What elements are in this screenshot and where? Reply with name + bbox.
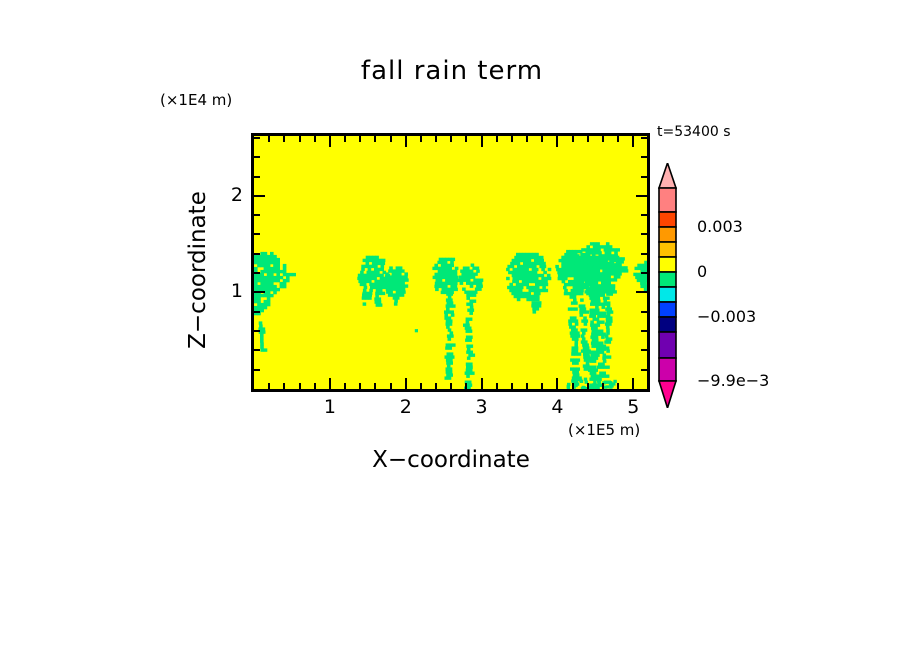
y-axis-tick — [254, 214, 260, 216]
y-axis-tick-right — [641, 137, 647, 139]
y-axis-tick — [254, 349, 260, 351]
x-axis-tick-top — [435, 136, 437, 142]
x-axis-tick-top — [556, 136, 558, 147]
y-axis-tick — [254, 176, 260, 178]
y-axis-tick — [254, 253, 260, 255]
x-axis-tick-top — [299, 136, 301, 142]
x-axis-tick-top — [268, 136, 270, 142]
x-axis-tick-top — [405, 136, 407, 147]
x-axis-tick — [390, 383, 392, 389]
x-axis-tick — [420, 383, 422, 389]
x-tick-label: 1 — [315, 396, 345, 418]
y-axis-tick — [254, 272, 260, 274]
colorbar — [655, 163, 695, 408]
x-axis-tick-top — [359, 136, 361, 142]
y-axis-tick-right — [641, 233, 647, 235]
y-axis-tick — [254, 156, 260, 158]
x-axis-title: X−coordinate — [0, 447, 903, 473]
colorbar-tick-label: 0.003 — [697, 217, 743, 236]
figure-canvas: fall rain term (×1E4 m) (×1E5 m) X−coord… — [0, 0, 904, 654]
x-axis-tick — [465, 383, 467, 389]
y-axis-tick — [254, 233, 260, 235]
y-axis-tick — [254, 195, 265, 197]
x-axis-tick-top — [465, 136, 467, 142]
colorbar-band — [659, 287, 676, 302]
y-axis-tick — [254, 137, 260, 139]
x-axis-tick — [344, 383, 346, 389]
y-axis-title: Z−coordinate — [185, 170, 211, 370]
x-axis-tick-top — [329, 136, 331, 147]
y-axis-tick-right — [641, 349, 647, 351]
colorbar-tick-label: −0.003 — [697, 307, 756, 326]
y-axis-tick-right — [641, 330, 647, 332]
colorbar-band — [659, 302, 676, 317]
x-axis-tick — [283, 383, 285, 389]
x-axis-tick-top — [481, 136, 483, 147]
x-axis-tick — [268, 383, 270, 389]
y-axis-tick-right — [641, 253, 647, 255]
y-tick-label: 2 — [221, 184, 243, 206]
x-axis-tick — [450, 383, 452, 389]
timestamp-label: t=53400 s — [657, 124, 731, 140]
y-axis-tick-right — [641, 311, 647, 313]
x-axis-tick-top — [617, 136, 619, 142]
y-axis-tick — [254, 311, 260, 313]
colorbar-band — [659, 242, 676, 257]
x-tick-label: 3 — [467, 396, 497, 418]
y-axis-tick-right — [641, 369, 647, 371]
x-axis-tick-top — [572, 136, 574, 142]
x-axis-tick — [526, 383, 528, 389]
x-axis-tick — [405, 378, 407, 389]
x-axis-tick-top — [511, 136, 513, 142]
x-axis-tick — [314, 383, 316, 389]
colorbar-band — [659, 257, 676, 272]
x-axis-tick — [602, 383, 604, 389]
x-axis-tick-top — [632, 136, 634, 147]
colorbar-overflow-arrow-bottom — [659, 381, 676, 408]
x-axis-tick — [299, 383, 301, 389]
page-title: fall rain term — [0, 56, 904, 86]
colorbar-band — [659, 272, 676, 287]
x-axis-tick-top — [587, 136, 589, 142]
x-axis-tick-top — [344, 136, 346, 142]
x-axis-tick-top — [420, 136, 422, 142]
y-axis-tick — [254, 291, 265, 293]
x-tick-label: 5 — [618, 396, 648, 418]
y-axis-tick-right — [641, 272, 647, 274]
x-axis-tick-top — [496, 136, 498, 142]
colorbar-swatches — [655, 163, 695, 408]
x-axis-tick-top — [541, 136, 543, 142]
x-axis-tick — [481, 378, 483, 389]
x-axis-tick-top — [283, 136, 285, 142]
y-axis-tick — [254, 369, 260, 371]
colorbar-tick-label: −9.9e−3 — [697, 371, 769, 390]
x-axis-tick — [572, 383, 574, 389]
y-axis-tick-right — [636, 291, 647, 293]
x-axis-tick — [541, 383, 543, 389]
y-axis-unit-label: (×1E4 m) — [160, 91, 232, 109]
contour-field — [254, 136, 647, 389]
x-axis-tick — [587, 383, 589, 389]
x-axis-tick — [632, 378, 634, 389]
x-axis-tick — [496, 383, 498, 389]
x-axis-tick — [329, 378, 331, 389]
colorbar-band — [659, 188, 676, 212]
plot-area — [251, 133, 650, 392]
x-axis-tick-top — [526, 136, 528, 142]
colorbar-band — [659, 332, 676, 358]
x-axis-tick — [511, 383, 513, 389]
x-axis-tick-top — [602, 136, 604, 142]
x-tick-label: 2 — [391, 396, 421, 418]
y-axis-tick-right — [641, 176, 647, 178]
y-tick-label: 1 — [221, 280, 243, 302]
y-axis-tick — [254, 330, 260, 332]
colorbar-band — [659, 227, 676, 242]
x-axis-tick-top — [450, 136, 452, 142]
x-axis-tick — [374, 383, 376, 389]
y-axis-tick-right — [641, 214, 647, 216]
colorbar-overflow-arrow-top — [659, 163, 676, 188]
x-axis-tick — [435, 383, 437, 389]
y-axis-tick-right — [636, 195, 647, 197]
x-axis-tick-top — [374, 136, 376, 142]
x-axis-tick — [556, 378, 558, 389]
x-tick-label: 4 — [542, 396, 572, 418]
colorbar-tick-label: 0 — [697, 262, 707, 281]
colorbar-band — [659, 212, 676, 227]
x-axis-tick-top — [314, 136, 316, 142]
x-axis-unit-label: (×1E5 m) — [568, 421, 640, 439]
x-axis-tick — [359, 383, 361, 389]
colorbar-band — [659, 358, 676, 381]
x-axis-tick-top — [390, 136, 392, 142]
colorbar-band — [659, 317, 676, 332]
x-axis-tick — [617, 383, 619, 389]
y-axis-tick-right — [641, 156, 647, 158]
